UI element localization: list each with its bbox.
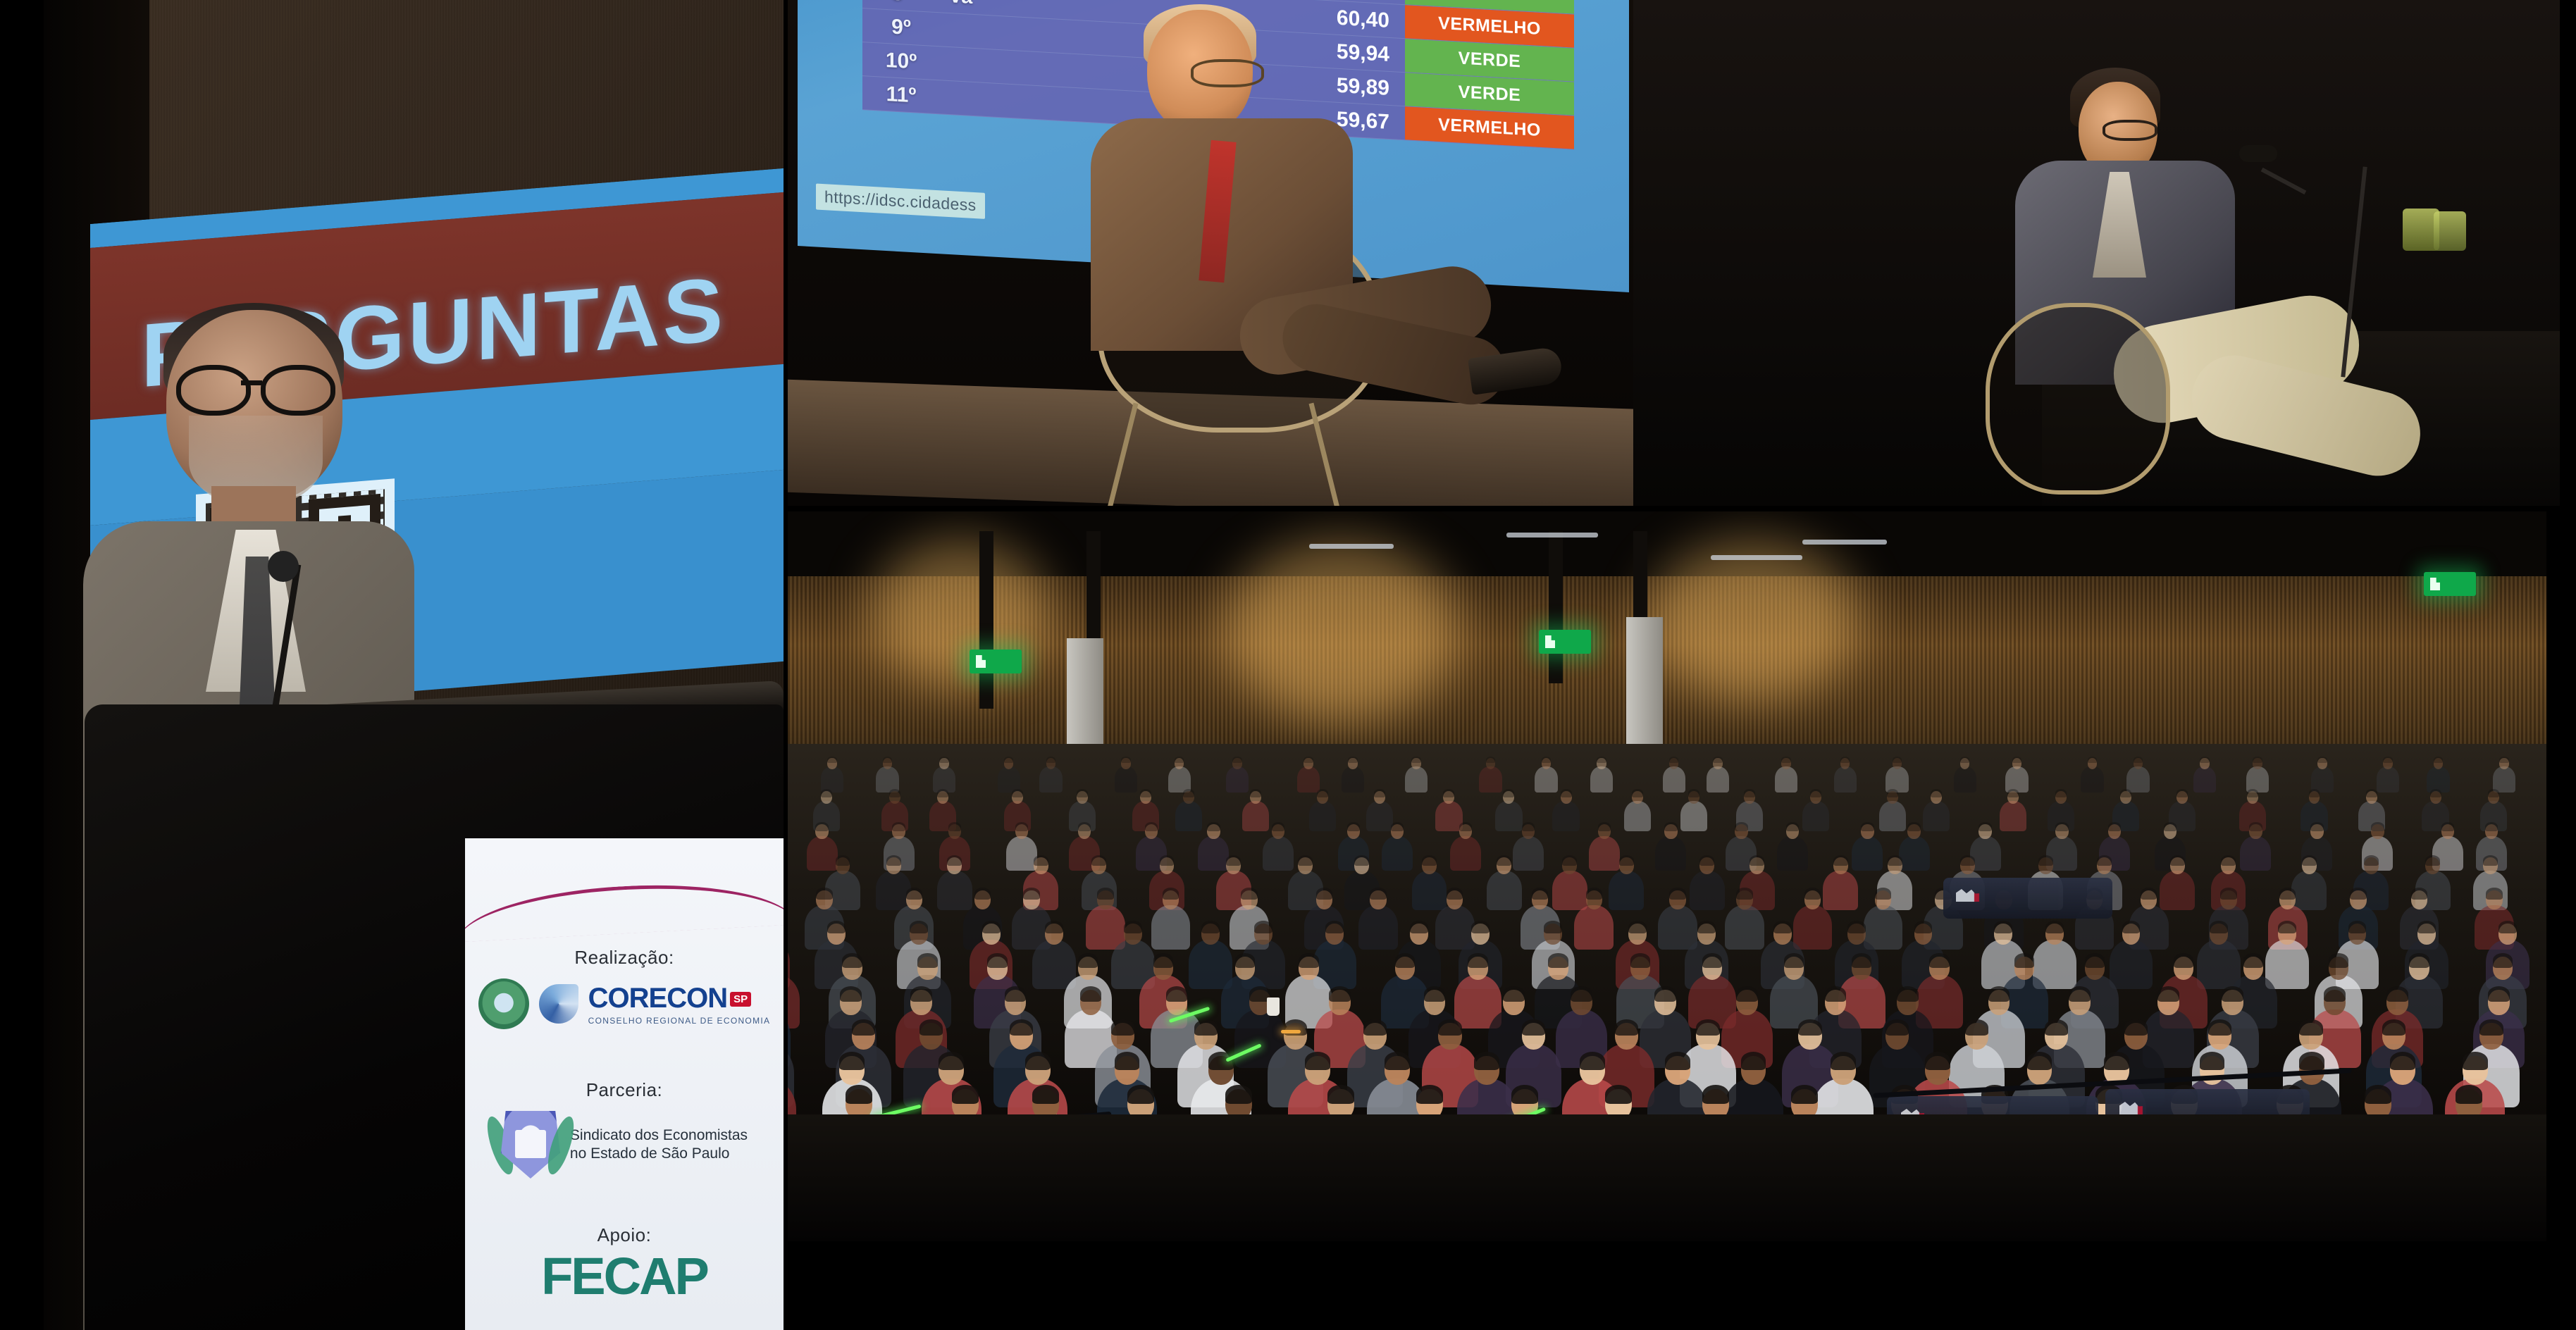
audience-member: [2265, 940, 2309, 989]
audience-member-hair: [1804, 888, 1821, 900]
audience-member: [876, 871, 911, 910]
audience-member-hair: [2141, 888, 2157, 900]
audience-member: [1297, 766, 1320, 792]
audience-member-hair: [889, 789, 900, 797]
audience-member: [998, 766, 1020, 792]
audience-member-hair: [1447, 888, 1463, 900]
audience-member: [1006, 836, 1037, 871]
sindicato-line-2: no Estado de São Paulo: [570, 1145, 748, 1163]
audience-member-hair: [1175, 757, 1184, 764]
audience-member-hair: [2170, 855, 2185, 866]
audience-member-hair: [939, 1052, 964, 1070]
audience-member-hair: [2104, 1052, 2129, 1070]
audience-member-hair: [2382, 1019, 2405, 1036]
audience-member-hair: [1241, 888, 1257, 900]
bottom-black-border: [788, 1241, 2576, 1330]
audience-member: [1899, 836, 1930, 871]
audience-member-hair: [2299, 1019, 2322, 1036]
audience-member-hair: [1665, 1052, 1690, 1070]
audience-member-hair: [1226, 855, 1241, 866]
audience-member: [1834, 766, 1857, 792]
audience-member: [1513, 836, 1544, 871]
audience-member-hair: [2134, 757, 2143, 764]
audience-member-hair: [1914, 921, 1933, 934]
podium-sponsor-panel: Realização: CORECONSP CONSELHO REGIONAL …: [465, 838, 784, 1330]
audience-member-hair: [1929, 953, 1949, 967]
audience-member-hair: [1012, 789, 1023, 797]
audience-member-hair: [1347, 822, 1360, 831]
audience-member: [1624, 801, 1651, 831]
audience-member: [1382, 836, 1413, 871]
sindicato-logo: Sindicato dos Economistas no Estado de S…: [465, 1111, 784, 1179]
audience-member-hair: [2249, 822, 2262, 831]
audience-member-hair: [1348, 757, 1358, 764]
audience-member-hair: [2386, 986, 2408, 1002]
ceiling-light-strip: [1711, 555, 1802, 560]
audience-member: [1954, 766, 1976, 792]
audience-member: [1680, 801, 1707, 831]
exit-sign: [970, 650, 1022, 673]
audience-member-hair: [1965, 1019, 1988, 1036]
audience-member-hair: [1784, 953, 1804, 967]
audience-member: [788, 975, 800, 1028]
audience-member-hair: [2200, 1052, 2225, 1070]
auditorium-aisle-floor: [788, 1114, 2546, 1241]
audience-member: [2193, 766, 2216, 792]
audience-member-hair: [1503, 986, 1525, 1002]
audience-member-hair: [1888, 855, 1902, 866]
audience-member-hair: [982, 921, 1001, 934]
audience-member-hair: [2417, 921, 2436, 934]
audience-member-hair: [2390, 1052, 2415, 1070]
audience-member: [1198, 836, 1229, 871]
audience-member-hair: [1960, 855, 1975, 866]
audience-member: [1775, 766, 1797, 792]
audience-member-hair: [948, 822, 961, 831]
audience-member: [2081, 766, 2103, 792]
audience-member-hair: [1781, 757, 1791, 764]
fecap-logo: FECAP: [465, 1246, 784, 1306]
index-value: 60,40: [1256, 1, 1405, 34]
panelist1-chair: [1986, 303, 2170, 495]
audience-member-hair: [2085, 953, 2105, 967]
audience-member-hair: [1410, 921, 1428, 934]
audience-member: [2240, 836, 2271, 871]
index-value: 59,89: [1256, 69, 1405, 101]
audience-member: [2493, 766, 2515, 792]
audience-member-hair: [1391, 822, 1404, 831]
audience-member-hair: [1931, 789, 1942, 797]
audience-member-hair: [1630, 953, 1650, 967]
audience-member-hair: [2309, 789, 2320, 797]
audience-member-hair: [1025, 1052, 1051, 1070]
audience-member-hair: [910, 921, 928, 934]
audience-member: [1663, 766, 1685, 792]
audience-member-hair: [919, 1019, 943, 1036]
audience-member-hair: [1459, 822, 1472, 831]
audience-member-hair: [842, 953, 862, 967]
audience-member-hair: [2488, 986, 2510, 1002]
wall-light-glow: [872, 540, 1048, 688]
audience-member-hair: [1497, 855, 1511, 866]
audience-member-hair: [1438, 1019, 1461, 1036]
audience-member-hair: [1960, 757, 1970, 764]
audience-member-hair: [1395, 953, 1415, 967]
audience-member-hair: [2463, 1052, 2488, 1070]
audience-member: [1189, 940, 1232, 989]
audience-member-hair: [1548, 953, 1568, 967]
audience-member-hair: [2498, 921, 2517, 934]
audience-member-hair: [987, 953, 1007, 967]
audience-member-hair: [1511, 1085, 1538, 1104]
audience-member-hair: [2364, 855, 2379, 866]
audience-member-hair: [1232, 757, 1242, 764]
audience-member-hair: [2350, 888, 2366, 900]
audience-member-hair: [2210, 921, 2228, 934]
audience-member: [1552, 871, 1587, 910]
audience-member-hair: [1140, 789, 1151, 797]
audience-member-hair: [1791, 1085, 1818, 1104]
audience-member: [1590, 766, 1613, 792]
floor-marker-light: [1281, 1030, 1301, 1033]
panel-curve-accent: [465, 877, 784, 942]
audience-member: [1226, 766, 1249, 792]
audience-member: [1405, 766, 1428, 792]
pendant-light-rod: [979, 531, 993, 709]
audience-member-hair: [1632, 789, 1643, 797]
paper-cup: [1267, 997, 1280, 1016]
wall-light-glow: [1225, 540, 1457, 723]
audience-member-hair: [1078, 822, 1091, 831]
audience-member-hair: [1474, 1052, 1499, 1070]
audience-member-hair: [2108, 822, 2121, 831]
audience-member: [1535, 766, 1557, 792]
audience-member-hair: [1363, 1019, 1387, 1036]
audience-member-hair: [852, 1019, 875, 1036]
audience-member-hair: [2365, 1085, 2391, 1104]
audience-member-hair: [1654, 986, 1676, 1002]
audience-member-hair: [1810, 789, 1821, 797]
audience-member-hair: [1699, 855, 1714, 866]
corecon-subtitle: CONSELHO REGIONAL DE ECONOMIA: [588, 1016, 771, 1026]
audience-member-hair: [2324, 986, 2346, 1002]
audience-member-hair: [2124, 1019, 2148, 1036]
audience-member: [1879, 801, 1906, 831]
audience-member-hair: [2055, 822, 2068, 831]
audience-member-hair: [1329, 986, 1351, 1002]
audience-member-hair: [1522, 1019, 1545, 1036]
water-bottle: [2434, 211, 2466, 251]
audience-member: [1168, 766, 1191, 792]
audience-member-hair: [2493, 953, 2513, 967]
audience-member-hair: [1852, 953, 1871, 967]
audience-member: [1309, 801, 1336, 831]
audience-member-hair: [2014, 953, 2034, 967]
audience-member-hair: [827, 921, 846, 934]
audience-member-hair: [2253, 757, 2262, 764]
audience-member-hair: [1925, 1052, 1950, 1070]
audience-member: [2126, 766, 2149, 792]
audience-member-hair: [2479, 1019, 2503, 1036]
audience-member-hair: [2278, 921, 2296, 934]
audience-member-hair: [2122, 921, 2141, 934]
audience-member-hair: [1798, 1019, 1821, 1036]
audience-member: [2377, 766, 2399, 792]
audience-member-hair: [836, 855, 850, 866]
audience-member-hair: [974, 888, 991, 900]
audience-member: [2160, 871, 2195, 910]
audience-member: [1655, 836, 1686, 871]
audience-member-hair: [2456, 1085, 2482, 1104]
audience-member-hair: [1208, 1052, 1234, 1070]
audience-member-hair: [2027, 1052, 2052, 1070]
audience-member: [807, 836, 838, 871]
audience-member-hair: [1115, 1052, 1140, 1070]
audience-member-hair: [1091, 855, 1106, 866]
audience-member-hair: [1750, 855, 1764, 866]
panelist1-glasses-icon: [2103, 120, 2157, 141]
audience-member-hair: [1532, 888, 1548, 900]
audience-member-hair: [839, 1052, 865, 1070]
audience-member-hair: [1305, 1052, 1330, 1070]
audience-member-hair: [1885, 1019, 1909, 1036]
audience-member-hair: [1005, 986, 1027, 1002]
audience-member-hair: [2222, 986, 2243, 1002]
audience-member-hair: [1736, 888, 1752, 900]
brasao-icon: [478, 978, 529, 1029]
audience-member: [2000, 801, 2026, 831]
audience-member-hair: [2038, 855, 2053, 866]
audience-member-hair: [1298, 855, 1313, 866]
audience-member-hair: [1045, 921, 1063, 934]
audience-member-hair: [821, 789, 832, 797]
audience-member: [1435, 801, 1462, 831]
audience-member-hair: [1840, 757, 1850, 764]
audience-member: [2110, 940, 2153, 989]
parceria-label: Parceria:: [465, 1079, 784, 1101]
audience-member-hair: [1235, 953, 1255, 967]
audience-member-hair: [906, 888, 922, 900]
seat-back: [1943, 878, 2112, 919]
audience-member-hair: [910, 986, 932, 1002]
audience-member: [1852, 836, 1883, 871]
audience-member: [1263, 836, 1294, 871]
audience-member-hair: [1304, 757, 1313, 764]
audience-member: [821, 766, 843, 792]
audience-member-hair: [2430, 789, 2441, 797]
audience-member-hair: [1702, 953, 1722, 967]
audience-member-hair: [1988, 986, 2010, 1002]
apoio-label: Apoio:: [465, 1224, 784, 1246]
audience-member-hair: [1669, 888, 1685, 900]
ceiling-light-strip: [1802, 540, 1887, 545]
audience-member-hair: [2409, 953, 2429, 967]
audience-member-hair: [2317, 757, 2327, 764]
audience-member-hair: [2366, 789, 2377, 797]
audience-member-hair: [1046, 757, 1056, 764]
audience-member-hair: [1032, 1085, 1059, 1104]
audience-member-hair: [1207, 822, 1220, 831]
audience-member: [937, 871, 972, 910]
audience-member-hair: [2411, 888, 2427, 900]
audience-member: [1358, 905, 1398, 950]
ceiling-light-strip: [1506, 533, 1598, 537]
audience-member-hair: [2088, 757, 2098, 764]
audience-member-hair: [1080, 986, 1102, 1002]
audience-member-hair: [2120, 789, 2131, 797]
audience-member: [1366, 801, 1393, 831]
audience-member-hair: [1669, 757, 1679, 764]
corecon-swirl-icon: [539, 984, 578, 1024]
audience-member-hair: [2012, 757, 2022, 764]
audience-member: [876, 766, 898, 792]
corecon-seat-logo: [2119, 1102, 2150, 1114]
audience-member: [1487, 871, 1522, 910]
sindicato-line-1: Sindicato dos Economistas: [570, 1126, 748, 1145]
audience-member: [933, 766, 955, 792]
audience-member-hair: [846, 1085, 872, 1104]
audience-member-hair: [2329, 953, 2348, 967]
audience-member-hair: [2434, 757, 2444, 764]
audience-member-hair: [1370, 888, 1386, 900]
audience-member-hair: [1163, 888, 1179, 900]
audience-member: [1574, 905, 1614, 950]
audience-member-hair: [1994, 921, 2012, 934]
audience-member-hair: [1522, 822, 1535, 831]
audience-member-hair: [1424, 986, 1446, 1002]
auditorium-ceiling: [788, 511, 2546, 576]
audience-member-hair: [1619, 855, 1634, 866]
audience-member-hair: [2174, 953, 2193, 967]
corecon-state-badge: SP: [730, 992, 751, 1007]
audience-member-hair: [2007, 789, 2019, 797]
ceiling-light-strip: [1309, 544, 1394, 549]
audience-member-hair: [1702, 1085, 1729, 1104]
audience-member-hair: [1786, 822, 1799, 831]
audience-member-hair: [1580, 1052, 1605, 1070]
audience-member-hair: [1250, 789, 1261, 797]
speaker-glasses: [173, 365, 337, 409]
audience-member-hair: [2310, 822, 2323, 831]
audience-member-hair: [1145, 822, 1158, 831]
audience-member-hair: [1979, 822, 1991, 831]
audience-member: [2291, 871, 2327, 910]
audience-member-hair: [2425, 855, 2440, 866]
audience-member-hair: [1741, 1052, 1766, 1070]
audience-member-hair: [1688, 789, 1699, 797]
audience-member-hair: [917, 953, 937, 967]
audience-member-hair: [2243, 953, 2263, 967]
wall-light-glow: [1647, 540, 1859, 702]
exit-sign: [1539, 630, 1591, 654]
exit-sign: [2424, 572, 2476, 596]
audience-member: [1690, 871, 1725, 910]
rank-position: 10º: [862, 47, 940, 75]
audience-member-hair: [1697, 921, 1716, 934]
audience-member-hair: [2221, 855, 2236, 866]
audience-member: [1342, 766, 1364, 792]
audience-member-hair: [2157, 986, 2179, 1002]
audience-member-hair: [1411, 757, 1421, 764]
panel-seated-panelist: 4ºUbiratuba61,45VERMELHO5ºAraras61,30VER…: [788, 0, 2560, 506]
audience-member: [1495, 801, 1522, 831]
podium-microphone-icon: [268, 551, 299, 582]
realizacao-label: Realização:: [465, 947, 784, 969]
audience-member-hair: [1254, 921, 1272, 934]
audience-member-hair: [2279, 888, 2296, 900]
audience-member: [1777, 836, 1808, 871]
corecon-seat-logo: [1956, 889, 1987, 902]
audience-member-hair: [937, 789, 948, 797]
audience-member-hair: [1598, 822, 1611, 831]
audience-member: [1039, 766, 1062, 792]
audience-member-hair: [1121, 757, 1131, 764]
audience-member-hair: [1354, 855, 1369, 866]
audience-member: [1802, 801, 1829, 831]
audience-member-hair: [1166, 986, 1188, 1002]
photo-collage: PERGUNTAS Realização:: [0, 0, 2576, 1330]
audience-member: [2311, 766, 2334, 792]
audience-member-hair: [1744, 789, 1755, 797]
audience-member-hair: [816, 888, 832, 900]
audience-member-hair: [1736, 986, 1758, 1002]
audience-member-hair: [2200, 757, 2210, 764]
audience-member-hair: [1327, 1085, 1354, 1104]
audience-member-hair: [1127, 1085, 1154, 1104]
audience-member-hair: [939, 757, 949, 764]
audience-member: [1151, 905, 1191, 950]
audience-member-hair: [1861, 822, 1874, 831]
pendant-light-rod: [1549, 531, 1563, 683]
audience-member-hair: [2348, 921, 2367, 934]
audience-member-hair: [2441, 822, 2454, 831]
audience-member-hair: [1385, 1052, 1410, 1070]
audience-member-hair: [1907, 822, 1920, 831]
audience-member-hair: [1561, 789, 1572, 797]
audience-member: [2246, 766, 2269, 792]
audience-member-hair: [1831, 1052, 1856, 1070]
audience-member-hair: [1628, 921, 1647, 934]
audience-member-hair: [2299, 1052, 2324, 1070]
audience-member: [1589, 836, 1620, 871]
corecon-logo: CORECONSP CONSELHO REGIONAL DE ECONOMIA: [465, 978, 784, 1029]
audience-member-hair: [1486, 757, 1496, 764]
audience-member: [1885, 766, 1908, 792]
left-black-border: [0, 0, 44, 1330]
audience-member-hair: [1887, 789, 1898, 797]
audience-member: [1032, 940, 1076, 989]
audience-member-hair: [1893, 757, 1902, 764]
panel-audience: [788, 511, 2546, 1241]
audience-member-hair: [1443, 789, 1454, 797]
audience-member-hair: [1097, 888, 1113, 900]
audience-member-hair: [1325, 921, 1344, 934]
audience-member-hair: [1542, 757, 1552, 764]
audience-member-hair: [2486, 888, 2502, 900]
audience-member: [1450, 836, 1481, 871]
audience-member: [1823, 871, 1858, 910]
audience-member-hair: [1183, 789, 1194, 797]
audience-member-hair: [2164, 822, 2176, 831]
audience-member-hair: [1194, 1019, 1218, 1036]
audience-member-hair: [1124, 921, 1142, 934]
audience-member: [1707, 766, 1729, 792]
audience-member: [1552, 801, 1579, 831]
rank-position: 9º: [862, 13, 940, 42]
audience-member-hair: [1735, 822, 1747, 831]
audience-member-hair: [1153, 953, 1173, 967]
audience-member-hair: [2302, 855, 2317, 866]
